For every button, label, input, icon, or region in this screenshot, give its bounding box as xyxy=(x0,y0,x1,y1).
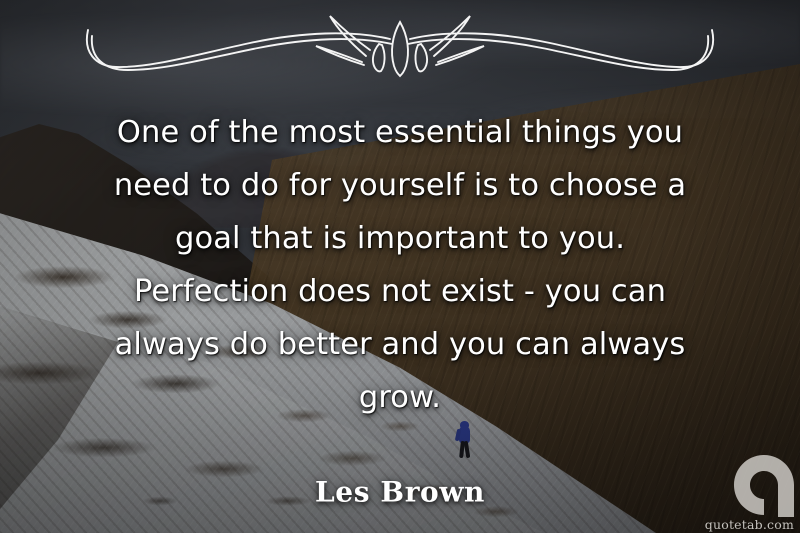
quote-text: One of the most essential things you nee… xyxy=(58,106,742,424)
watermark-site-label[interactable]: quotetab.com xyxy=(705,517,794,532)
quote-author: Les Brown xyxy=(0,476,800,509)
flourish-ornament-icon xyxy=(0,8,800,80)
quote-image-canvas: One of the most essential things you nee… xyxy=(0,0,800,533)
watermark[interactable]: quotetab.com xyxy=(700,455,800,533)
quotetab-logo-icon[interactable] xyxy=(734,455,800,517)
